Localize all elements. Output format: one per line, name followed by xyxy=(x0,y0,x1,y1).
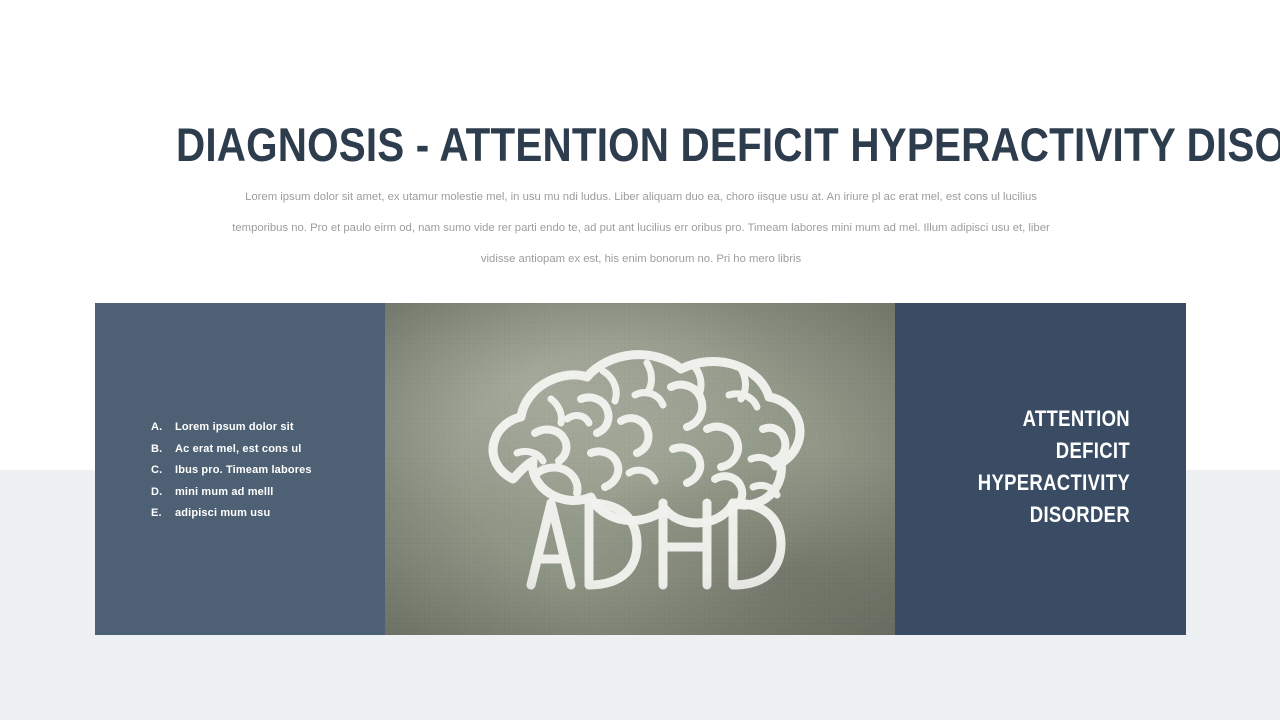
list-item-label: Ibus pro. Timeam labores xyxy=(175,464,312,476)
heading-line: DEFICIT xyxy=(962,435,1130,467)
list-item[interactable]: D. mini mum ad melll xyxy=(151,486,312,508)
list-item-label: adipisci mum usu xyxy=(175,507,270,519)
list-item-label: mini mum ad melll xyxy=(175,486,274,498)
list-item-marker: B. xyxy=(151,443,175,455)
list-item[interactable]: E. adipisci mum usu xyxy=(151,507,312,529)
heading-line: HYPERACTIVITY xyxy=(962,467,1130,499)
list-item-marker: D. xyxy=(151,486,175,498)
list-item-label: Lorem ipsum dolor sit xyxy=(175,421,294,433)
list-item-marker: A. xyxy=(151,421,175,433)
heading-line: DISORDER xyxy=(962,499,1130,531)
photo-vignette xyxy=(385,303,895,635)
right-panel-heading: ATTENTION DEFICIT HYPERACTIVITY DISORDER xyxy=(930,403,1130,531)
heading-line: ATTENTION xyxy=(962,403,1130,435)
right-heading-panel: ATTENTION DEFICIT HYPERACTIVITY DISORDER xyxy=(895,303,1186,635)
content-band: A. Lorem ipsum dolor sit B. Ac erat mel,… xyxy=(95,303,1186,635)
slide-canvas: DIAGNOSIS - ATTENTION DEFICIT HYPERACTIV… xyxy=(0,0,1280,720)
list-item[interactable]: B. Ac erat mel, est cons ul xyxy=(151,443,312,465)
list-item[interactable]: A. Lorem ipsum dolor sit xyxy=(151,421,312,443)
lettered-list: A. Lorem ipsum dolor sit B. Ac erat mel,… xyxy=(151,421,312,529)
list-item-marker: E. xyxy=(151,507,175,519)
left-list-panel: A. Lorem ipsum dolor sit B. Ac erat mel,… xyxy=(95,303,385,635)
page-title: DIAGNOSIS - ATTENTION DEFICIT HYPERACTIV… xyxy=(176,119,984,171)
body-paragraph: Lorem ipsum dolor sit amet, ex utamur mo… xyxy=(229,182,1053,275)
list-item[interactable]: C. Ibus pro. Timeam labores xyxy=(151,464,312,486)
list-item-marker: C. xyxy=(151,464,175,476)
list-item-label: Ac erat mel, est cons ul xyxy=(175,443,301,455)
brain-chalkboard-image xyxy=(385,303,895,635)
